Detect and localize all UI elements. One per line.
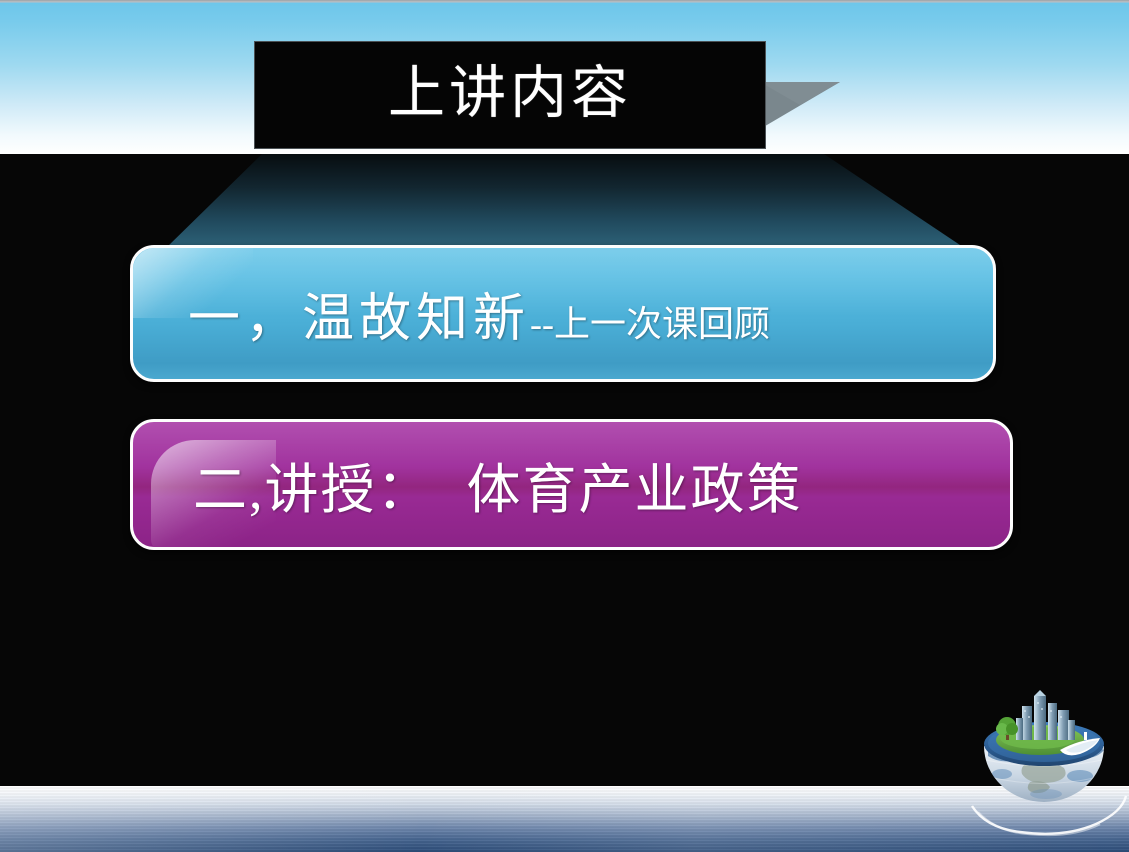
banner-ribbon-tail-icon	[760, 82, 840, 129]
page-title: 上讲内容	[388, 65, 632, 126]
agenda-item-2-main: 讲授：	[265, 460, 433, 520]
agenda-item-1-sub: 上一次课回顾	[554, 304, 770, 344]
agenda-item-2-text: 二,讲授：体育产业政策	[133, 445, 803, 524]
agenda-item-1-dashes: --	[530, 304, 554, 344]
spotlight-trapezoid-decoration	[0, 154, 1129, 249]
agenda-item-1-main: 温故知新	[302, 291, 530, 348]
agenda-item-1-number: 一，	[188, 291, 302, 348]
globe-city-ocean-graphic	[960, 690, 1129, 852]
presentation-slide: 上讲内容 一，温故知新--上一次课回顾 二,讲授：体育产业政	[0, 0, 1129, 852]
agenda-item-1-text: 一，温故知新--上一次课回顾	[133, 276, 770, 351]
agenda-item-2-sub: 体育产业政策	[467, 460, 803, 520]
agenda-item-1[interactable]: 一，温故知新--上一次课回顾	[130, 245, 996, 382]
city-skyline-icon	[1016, 690, 1075, 740]
white-swoosh-ribbon	[972, 796, 1126, 835]
agenda-item-2[interactable]: 二,讲授：体育产业政策	[130, 419, 1013, 550]
slide-top-rule	[0, 0, 1129, 3]
agenda-item-2-number: 二,	[193, 460, 265, 520]
slide-title-banner: 上讲内容	[255, 42, 765, 148]
